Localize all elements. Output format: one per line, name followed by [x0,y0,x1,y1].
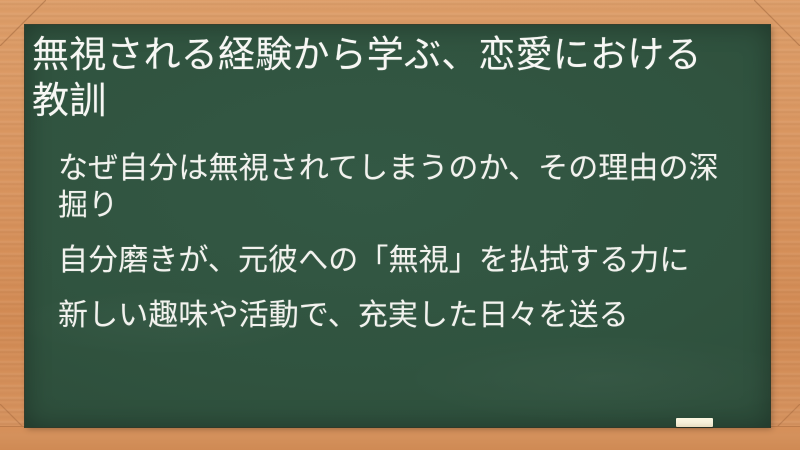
board-content: 無視される経験から学ぶ、恋愛における教訓 なぜ自分は無視されてしまうのか、その理… [25,25,770,334]
chalk-stick-icon [676,418,713,427]
chalk-ledge [0,426,800,450]
chalkboard-slide: 無視される経験から学ぶ、恋愛における教訓 なぜ自分は無視されてしまうのか、その理… [0,0,800,450]
list-item: 新しい趣味や活動で、充実した日々を送る [58,297,752,334]
slide-title: 無視される経験から学ぶ、恋愛における教訓 [32,32,752,124]
chalkboard-surface: 無視される経験から学ぶ、恋愛における教訓 なぜ自分は無視されてしまうのか、その理… [25,25,770,427]
list-item: なぜ自分は無視されてしまうのか、その理由の深掘り [58,150,752,224]
list-item: 自分磨きが、元彼への「無視」を払拭する力に [58,242,752,279]
slide-bullet-list: なぜ自分は無視されてしまうのか、その理由の深掘り 自分磨きが、元彼への「無視」を… [32,150,752,334]
